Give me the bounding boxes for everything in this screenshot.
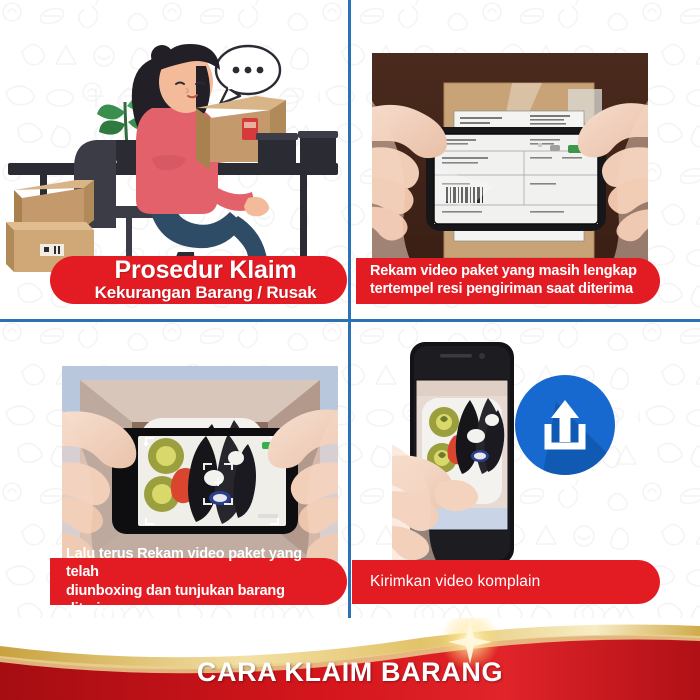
panel-3-caption-line2: diunboxing dan tunjukan barang diterima — [66, 582, 337, 619]
footer-title: CARA KLAIM BARANG — [0, 657, 700, 688]
black-boxes — [256, 131, 338, 164]
divider-vertical — [348, 0, 351, 620]
panel-1-title-line2: Kekurangan Barang / Rusak — [95, 283, 317, 303]
infographic-canvas: Prosedur Klaim Kekurangan Barang / Rusak… — [0, 0, 700, 700]
panel-1-title-banner: Prosedur Klaim Kekurangan Barang / Rusak — [50, 256, 347, 304]
speech-bubble-ellipsis — [216, 46, 280, 104]
divider-horizontal — [0, 319, 700, 322]
panel-3-caption-line1: Lalu terus Rekam video paket yang telah — [66, 545, 337, 582]
panel-4-caption-line1: Kirimkan video komplain — [370, 573, 650, 592]
panel-1-title-line1: Prosedur Klaim — [115, 258, 297, 283]
panel-2-caption-banner: Rekam video paket yang masih lengkap ter… — [356, 258, 660, 304]
panel-3-caption-banner: Lalu terus Rekam video paket yang telah … — [50, 558, 347, 605]
panel-2-caption-line1: Rekam video paket yang masih lengkap — [370, 263, 650, 281]
footer-banner: CARA KLAIM BARANG — [0, 618, 700, 700]
panel-4-caption-banner: Kirimkan video komplain — [352, 560, 660, 604]
upload-share-icon[interactable] — [512, 372, 618, 478]
photo-filming-parcel — [372, 53, 648, 268]
panel-2-caption-line2: tertempel resi pengiriman saat diterima — [370, 281, 650, 299]
red-product-in-hand — [242, 118, 258, 140]
